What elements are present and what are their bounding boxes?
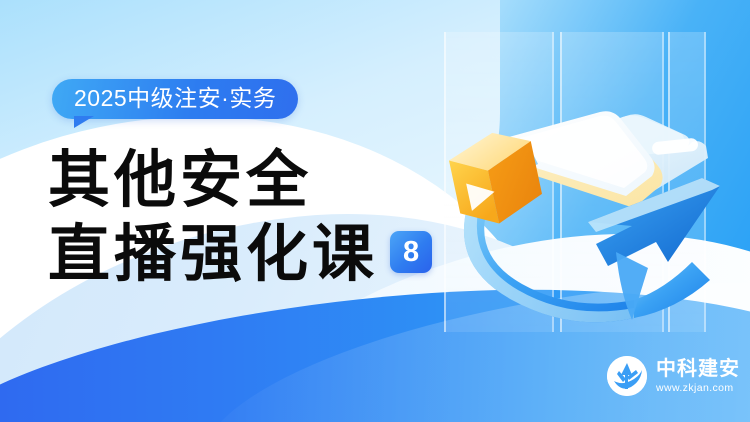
headline-block: 其他安全 直播强化课8	[48, 148, 468, 288]
title-line-1-text: 其他安全	[48, 147, 312, 215]
circular-arrow-icon	[464, 148, 720, 322]
course-banner: 2025中级注安·实务 其他安全 直播强化课8 中科建安 www.zkjan.c…	[0, 0, 750, 422]
brand-logo: 中科建安 www.zkjan.com	[607, 356, 740, 396]
title-line-2-text: 直播强化课	[48, 221, 378, 289]
illustration-panel-3	[668, 32, 706, 332]
title-line-1: 其他安全	[48, 148, 468, 214]
hero-illustration	[420, 0, 750, 360]
brand-url: www.zkjan.com	[656, 383, 740, 394]
brand-text: 中科建安 www.zkjan.com	[656, 359, 740, 394]
zkjan-logo-icon	[607, 356, 647, 396]
document-folder-icon	[498, 111, 708, 208]
course-category-label: 2025中级注安·实务	[74, 85, 276, 111]
brand-name: 中科建安	[656, 359, 740, 379]
title-line-2: 直播强化课8	[48, 222, 468, 288]
illustration-panel-2	[560, 32, 664, 332]
badge-tail	[74, 116, 94, 128]
course-category-badge: 2025中级注安·实务	[52, 79, 298, 119]
episode-number-badge: 8	[390, 231, 432, 273]
illustration-graphics	[420, 0, 750, 360]
